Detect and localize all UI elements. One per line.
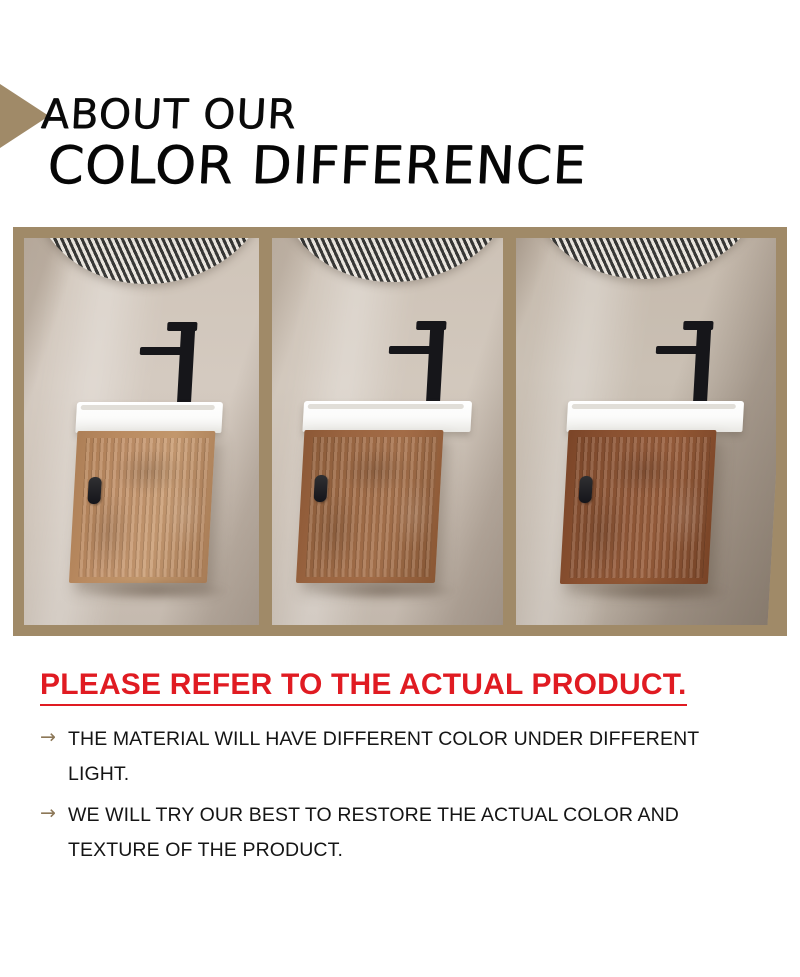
wood-cabinet	[560, 430, 717, 584]
list-item: → WE WILL TRY OUR BEST TO RESTORE THE AC…	[40, 798, 760, 868]
white-basin	[566, 401, 744, 432]
gallery-panel-light-oak[interactable]	[24, 238, 259, 625]
cabinet-drop-shadow	[81, 580, 232, 602]
wood-grain	[305, 437, 438, 577]
wood-cabinet	[296, 430, 444, 583]
gallery-inner	[13, 227, 787, 636]
infographic-page: ABOUT OUR COLOR DIFFERENCE	[0, 0, 800, 977]
list-item: → THE MATERIAL WILL HAVE DIFFERENT COLOR…	[40, 722, 760, 792]
vanity-photo-dark-walnut	[516, 238, 776, 625]
gallery-panel-dark-walnut[interactable]	[516, 238, 776, 625]
gallery-panel-medium-walnut[interactable]	[272, 238, 503, 625]
white-basin	[75, 402, 223, 433]
wood-cabinet	[69, 431, 215, 583]
cabinet-door	[569, 437, 711, 578]
cabinet-handle	[578, 476, 593, 503]
cabinet-door	[78, 438, 210, 577]
wood-grain	[569, 437, 711, 578]
disclaimer-headline: PLEASE REFER TO THE ACTUAL PRODUCT.	[40, 668, 687, 706]
disclaimer-bullet-list: → THE MATERIAL WILL HAVE DIFFERENT COLOR…	[40, 722, 760, 868]
vanity-photo-light-oak	[24, 238, 259, 625]
page-title-line-1: ABOUT OUR	[40, 92, 762, 136]
disclaimer-block: PLEASE REFER TO THE ACTUAL PRODUCT. → TH…	[40, 668, 760, 874]
cabinet-drop-shadow	[573, 581, 732, 603]
wood-grain	[78, 438, 210, 577]
white-basin	[302, 401, 472, 432]
cabinet-handle	[87, 477, 102, 504]
cabinet-handle	[313, 475, 328, 502]
cabinet-drop-shadow	[309, 580, 460, 602]
arrow-right-icon: →	[40, 798, 68, 828]
vanity-photo-medium-walnut	[272, 238, 503, 625]
list-item-label: WE WILL TRY OUR BEST TO RESTORE THE ACTU…	[68, 798, 758, 868]
cabinet-door	[305, 437, 438, 577]
page-title-line-2: COLOR DIFFERENCE	[46, 138, 763, 194]
arrow-right-icon: →	[40, 722, 68, 752]
product-gallery	[13, 227, 787, 636]
page-title: ABOUT OUR COLOR DIFFERENCE	[40, 92, 760, 194]
list-item-label: THE MATERIAL WILL HAVE DIFFERENT COLOR U…	[68, 722, 758, 792]
